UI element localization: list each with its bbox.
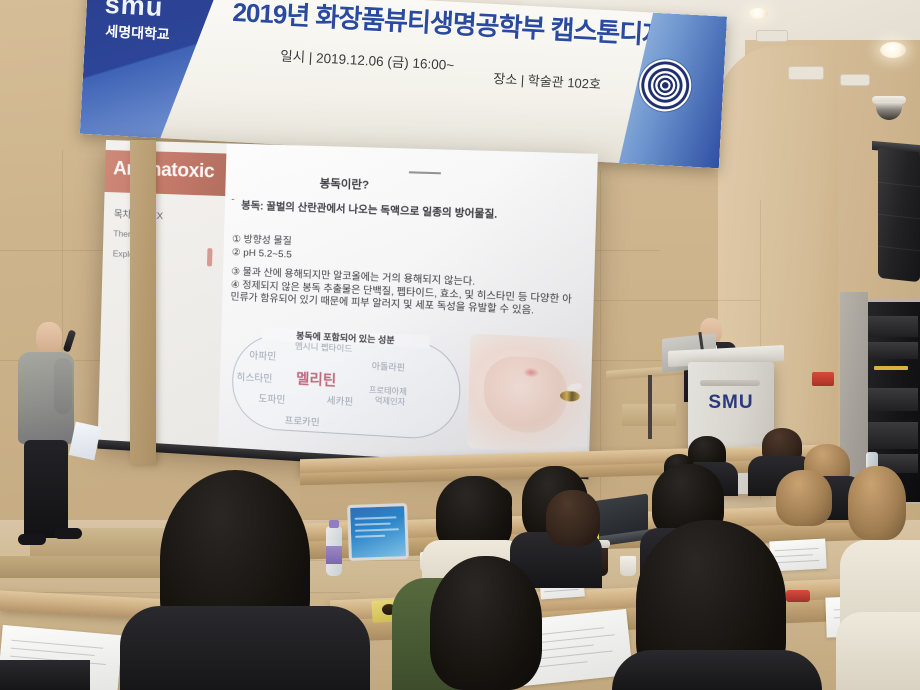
exit-sign-icon <box>812 372 834 386</box>
audience-body-foreground <box>0 660 90 690</box>
audience-head <box>776 470 832 526</box>
occluding-pillar <box>130 140 156 465</box>
podium-slot <box>700 380 760 386</box>
tablet-on-desk <box>347 503 409 561</box>
banner-place-value: 학술관 102호 <box>527 73 601 92</box>
audience-body-foreground <box>120 606 370 690</box>
air-vent-icon <box>840 74 870 86</box>
recessed-downlight-icon <box>880 42 906 58</box>
banner-date-separator: | <box>308 50 312 65</box>
water-bottle-label <box>326 546 342 564</box>
banner-date: 일시 | 2019.12.06 (금) 16:00~ <box>280 45 455 74</box>
banner-date-label: 일시 <box>280 49 306 65</box>
audience-head-foreground <box>430 556 542 690</box>
recessed-downlight-icon <box>748 8 768 19</box>
red-object <box>786 590 810 602</box>
rack-status-light <box>874 366 908 370</box>
presenter-standing-face <box>36 322 62 354</box>
presenter-standing-pants <box>24 440 68 538</box>
line-array-speaker <box>878 148 920 282</box>
presenter-standing-shoe <box>54 528 82 539</box>
water-bottle-cap <box>329 520 339 528</box>
audience-body-foreground <box>836 612 920 690</box>
air-vent-icon <box>756 30 788 42</box>
banner-place: 장소 | 학술관 102호 <box>493 68 602 93</box>
podium-logo: SMU <box>700 392 762 414</box>
air-vent-icon <box>788 66 824 80</box>
presenter-standing-arm <box>54 358 72 414</box>
banner-place-separator: | <box>520 73 524 88</box>
audience-head <box>546 490 600 546</box>
audience-head <box>848 466 906 540</box>
banner-date-value: 2019.12.06 (금) 16:00~ <box>316 50 455 72</box>
presenter-standing-shoe <box>18 534 46 545</box>
screen-glare <box>98 140 598 470</box>
paper-cup <box>620 556 636 576</box>
projection-screen: Aromatoxic 목차 INDEX Theme Exploration - … <box>98 140 598 470</box>
side-table-leg <box>648 375 652 439</box>
banner-place-label: 장소 <box>493 71 518 87</box>
lecture-hall-photo: smu 세명대학교 2019년 화장품뷰티생명공학부 캡스톤디자인대회 일시 |… <box>0 0 920 690</box>
audience-body-foreground <box>612 650 822 690</box>
